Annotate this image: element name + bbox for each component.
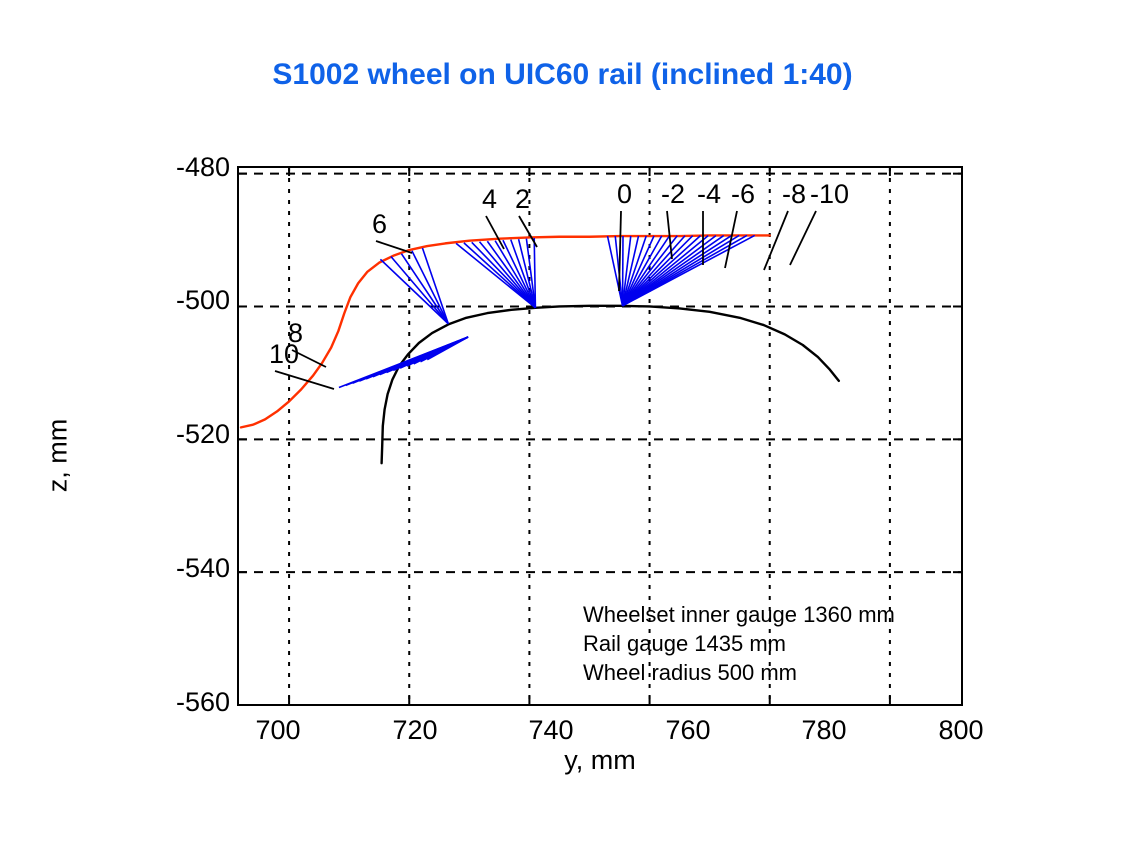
plot-canvas xyxy=(0,0,1125,850)
contact-point-label: 0 xyxy=(617,181,632,208)
contact-point-label: 2 xyxy=(515,186,530,213)
annotation-wheel-radius: Wheel radius 500 mm xyxy=(583,658,895,687)
annotation-wheelset-gauge: Wheelset inner gauge 1360 mm xyxy=(583,600,895,629)
contact-point-label: -4 xyxy=(697,181,721,208)
contact-point-label: 8 xyxy=(288,320,303,347)
contact-point-label: -2 xyxy=(661,181,685,208)
profile-curves xyxy=(241,235,839,463)
contact-point-label: -10 xyxy=(810,181,849,208)
annotation-rail-gauge: Rail gauge 1435 mm xyxy=(583,629,895,658)
contact-line-fans xyxy=(339,235,755,387)
contact-point-label: -6 xyxy=(731,181,755,208)
chart-figure: S1002 wheel on UIC60 rail (inclined 1:40… xyxy=(0,0,1125,850)
annotation-text-block: Wheelset inner gauge 1360 mm Rail gauge … xyxy=(583,600,895,687)
contact-point-label: 6 xyxy=(372,211,387,238)
contact-point-label: 4 xyxy=(482,186,497,213)
contact-point-label: -8 xyxy=(782,181,806,208)
